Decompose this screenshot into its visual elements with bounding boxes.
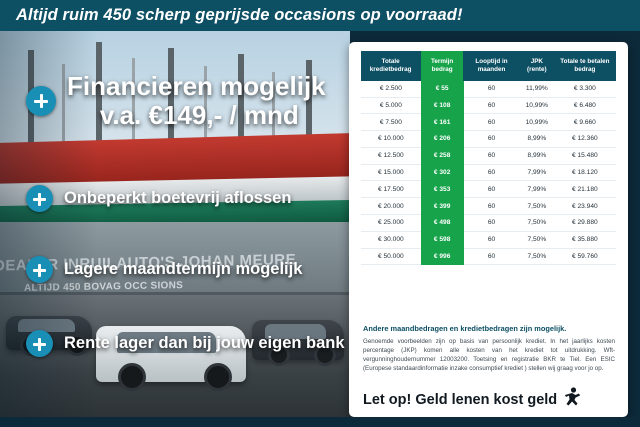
bullet-item-3: Rente lager dan bij jouw eigen bank [26, 330, 345, 357]
table-cell: 60 [464, 114, 520, 131]
table-row: € 17.500€ 353607,99%€ 21.180 [361, 181, 616, 198]
table-cell: 60 [464, 198, 520, 215]
table-cell: € 18.120 [554, 164, 615, 181]
bottom-bar [0, 417, 640, 427]
table-cell: 60 [464, 164, 520, 181]
col-header-apr: JPK (rente) [519, 51, 554, 81]
table-cell: € 23.940 [554, 198, 615, 215]
table-cell: € 258 [421, 147, 464, 164]
table-cell: € 25.000 [361, 214, 421, 231]
col-header-duration: Looptijd in maanden [464, 51, 520, 81]
bullet-label: Onbeperkt boetevrij aflossen [64, 189, 291, 208]
table-row: € 5.000€ 1086010,99%€ 6.480 [361, 97, 616, 114]
table-row: € 12.500€ 258608,99%€ 15.480 [361, 147, 616, 164]
col-header-total-credit: Totale kredietbedrag [361, 51, 421, 81]
table-cell: € 15.480 [554, 147, 615, 164]
table-cell: € 3.300 [554, 81, 615, 97]
headline-line-1: Financieren mogelijk [67, 71, 326, 101]
top-banner: Altijd ruim 450 scherp geprijsde occasio… [0, 0, 640, 31]
bullet-item-1: Onbeperkt boetevrij aflossen [26, 185, 291, 212]
notes-title: Andere maandbedragen en kredietbedragen … [363, 324, 615, 333]
warning-text: Let op! Geld lenen kost geld [363, 392, 557, 408]
table-cell: € 12.500 [361, 147, 421, 164]
col-header-monthly: Termijn bedrag [421, 51, 464, 81]
table-row: € 50.000€ 996607,50%€ 59.760 [361, 248, 616, 265]
car-wheel [204, 363, 232, 391]
table-cell: € 12.360 [554, 131, 615, 148]
table-cell: € 2.500 [361, 81, 421, 97]
table-cell: 7,50% [519, 248, 554, 265]
table-cell: 60 [464, 147, 520, 164]
table-cell: 7,50% [519, 214, 554, 231]
headline-line-2: v.a. €149,- / mnd [67, 101, 326, 130]
table-cell: € 21.180 [554, 181, 615, 198]
car-wheel [118, 363, 146, 391]
forecourt [0, 295, 350, 427]
walking-person-icon [563, 387, 581, 412]
table-cell: € 399 [421, 198, 464, 215]
table-row: € 10.000€ 206608,99%€ 12.360 [361, 131, 616, 148]
table-cell: € 598 [421, 231, 464, 248]
table-cell: € 206 [421, 131, 464, 148]
table-cell: € 996 [421, 248, 464, 265]
table-cell: 11,99% [519, 81, 554, 97]
notes-body: Genoemde voorbeelden zijn op basis van p… [363, 338, 615, 374]
col-header-total-payable: Totale te betalen bedrag [554, 51, 615, 81]
table-cell: € 108 [421, 97, 464, 114]
table-cell: € 30.000 [361, 231, 421, 248]
plus-icon [26, 330, 53, 357]
table-cell: € 6.480 [554, 97, 615, 114]
table-cell: € 20.000 [361, 198, 421, 215]
table-cell: € 7.500 [361, 114, 421, 131]
table-cell: € 10.000 [361, 131, 421, 148]
table-cell: € 353 [421, 181, 464, 198]
table-row: € 25.000€ 498607,50%€ 29.880 [361, 214, 616, 231]
table-cell: 8,99% [519, 147, 554, 164]
table-cell: 10,99% [519, 97, 554, 114]
table-cell: 60 [464, 97, 520, 114]
plus-icon [26, 256, 53, 283]
headline-block: Financieren mogelijk v.a. €149,- / mnd [26, 72, 326, 130]
table-cell: € 498 [421, 214, 464, 231]
bullet-label: Rente lager dan bij jouw eigen bank [64, 334, 345, 353]
table-cell: 8,99% [519, 131, 554, 148]
plus-icon [26, 86, 56, 116]
table-row: € 20.000€ 399607,50%€ 23.940 [361, 198, 616, 215]
table-cell: € 17.500 [361, 181, 421, 198]
table-cell: € 59.760 [554, 248, 615, 265]
table-cell: 7,99% [519, 181, 554, 198]
table-cell: € 15.000 [361, 164, 421, 181]
table-cell: 60 [464, 131, 520, 148]
table-row: € 2.500€ 556011,99%€ 3.300 [361, 81, 616, 97]
table-cell: € 35.880 [554, 231, 615, 248]
table-cell: € 161 [421, 114, 464, 131]
table-row: € 7.500€ 1616010,99%€ 9.660 [361, 114, 616, 131]
table-cell: € 302 [421, 164, 464, 181]
table-header-row: Totale kredietbedrag Termijn bedrag Loop… [361, 51, 616, 81]
table-row: € 15.000€ 302607,99%€ 18.120 [361, 164, 616, 181]
table-row: € 30.000€ 598607,50%€ 35.880 [361, 231, 616, 248]
table-cell: 7,50% [519, 198, 554, 215]
table-cell: € 55 [421, 81, 464, 97]
headline-text: Financieren mogelijk v.a. €149,- / mnd [67, 72, 326, 130]
table-cell: € 5.000 [361, 97, 421, 114]
table-cell: 60 [464, 231, 520, 248]
rates-card: Totale kredietbedrag Termijn bedrag Loop… [349, 42, 628, 417]
table-cell: 7,50% [519, 231, 554, 248]
poster-canvas: DEALER INRUILAUTO'S JOHAN MEURE ALTIJD 4… [0, 0, 640, 427]
table-cell: € 9.660 [554, 114, 615, 131]
table-cell: 60 [464, 248, 520, 265]
banner-text: Altijd ruim 450 scherp geprijsde occasio… [0, 6, 463, 25]
rates-table-head: Totale kredietbedrag Termijn bedrag Loop… [361, 51, 616, 81]
table-cell: 60 [464, 214, 520, 231]
warning-block: Let op! Geld lenen kost geld [363, 387, 615, 412]
table-cell: 10,99% [519, 114, 554, 131]
table-cell: € 50.000 [361, 248, 421, 265]
rates-table-body: € 2.500€ 556011,99%€ 3.300€ 5.000€ 10860… [361, 81, 616, 265]
table-cell: 60 [464, 181, 520, 198]
table-cell: € 29.880 [554, 214, 615, 231]
table-cell: 7,99% [519, 164, 554, 181]
plus-icon [26, 185, 53, 212]
bullet-item-2: Lagere maandtermijn mogelijk [26, 256, 302, 283]
bullet-label: Lagere maandtermijn mogelijk [64, 260, 302, 279]
rates-table: Totale kredietbedrag Termijn bedrag Loop… [361, 51, 616, 265]
table-cell: 60 [464, 81, 520, 97]
